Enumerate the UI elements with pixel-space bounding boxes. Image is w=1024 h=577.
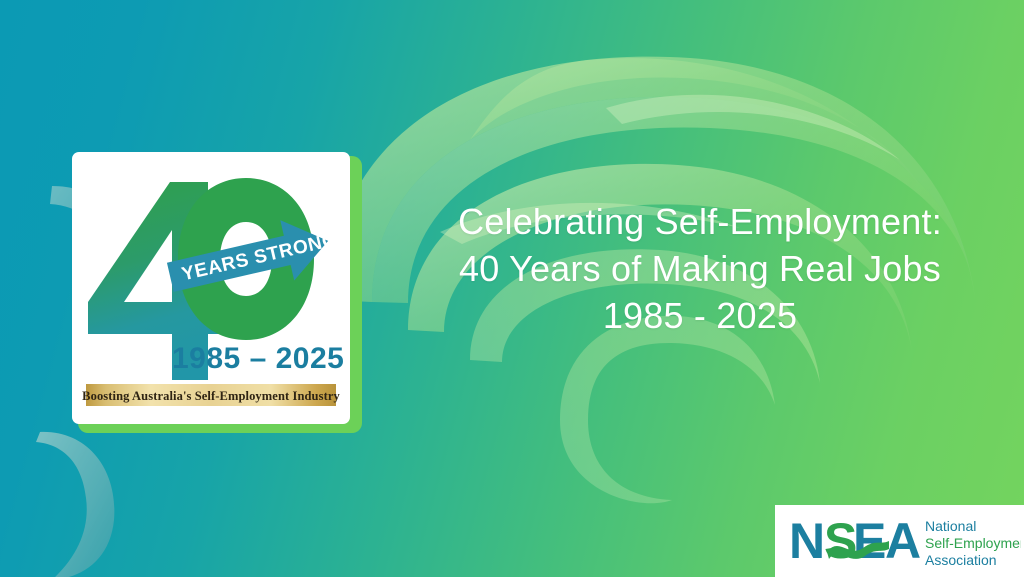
nsea-letter-a: A [885,514,921,568]
forty-years-strong-logo: YEARS STRONG 1985 – 2025 Boosting Austra… [72,152,350,424]
headline-block: Celebrating Self-Employment: 40 Years of… [392,198,1008,339]
nsea-name-line-1: National [925,518,976,534]
celebration-banner: YEARS STRONG 1985 – 2025 Boosting Austra… [0,0,1024,577]
years-range-label: 1985 – 2025 [172,342,344,375]
nsea-letter-e: E [853,514,886,568]
nsea-name-line-3: Association [925,552,997,568]
headline-line-3: 1985 - 2025 [392,292,1008,339]
logo-card-surface: YEARS STRONG 1985 – 2025 Boosting Austra… [72,152,350,424]
tagline-text: Boosting Australia's Self-Employment Ind… [82,389,340,403]
headline-line-2: 40 Years of Making Real Jobs [392,245,1008,292]
nsea-logo-artwork: N S E A National Self-Employment Associa… [789,514,1021,568]
nsea-letter-n: N [789,514,825,568]
headline-line-1: Celebrating Self-Employment: [392,198,1008,245]
anniversary-logo-card: YEARS STRONG 1985 – 2025 Boosting Austra… [72,152,356,429]
tagline-band: Boosting Australia's Self-Employment Ind… [82,384,340,406]
nsea-name-line-2: Self-Employment [925,535,1021,551]
nsea-logo: N S E A National Self-Employment Associa… [775,505,1024,577]
